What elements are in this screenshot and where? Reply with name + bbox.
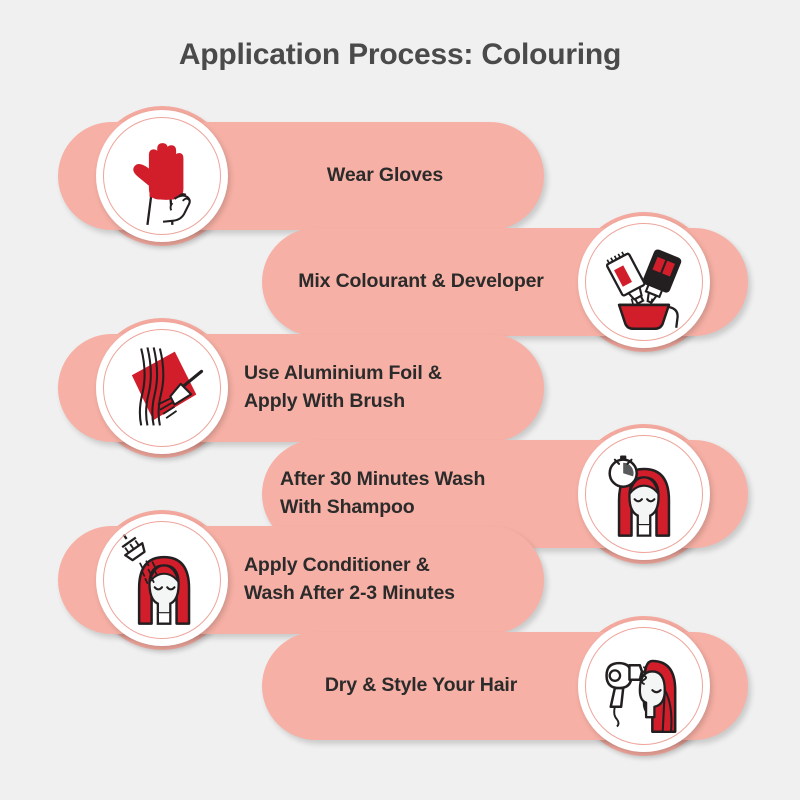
step-1-label: Wear Gloves [244,122,526,230]
foil-and-brush-icon [110,336,214,440]
step-row-1[interactable]: Wear Gloves [58,122,544,230]
step-row-6[interactable]: Dry & Style Your Hair [262,632,748,740]
mixing-bowl-icon [592,230,696,334]
step-5-label: Apply Conditioner & Wash After 2-3 Minut… [244,526,526,634]
infographic-canvas: Application Process: Colouring Wear Glov… [0,0,800,800]
stopwatch-woman-icon [592,442,696,546]
step-6-badge[interactable] [578,620,710,752]
step-3-badge[interactable] [96,322,228,454]
step-row-5[interactable]: Apply Conditioner & Wash After 2-3 Minut… [58,526,544,634]
step-1-badge[interactable] [96,110,228,242]
step-3-label: Use Aluminium Foil & Apply With Brush [244,334,526,442]
step-row-2[interactable]: Mix Colourant & Developer [262,228,748,336]
page-title: Application Process: Colouring [0,38,800,72]
shower-woman-icon [110,528,214,632]
gloved-hand-icon [110,124,214,228]
step-5-badge[interactable] [96,514,228,646]
step-4-badge[interactable] [578,428,710,560]
step-row-3[interactable]: Use Aluminium Foil & Apply With Brush [58,334,544,442]
step-6-label: Dry & Style Your Hair [280,632,562,740]
step-2-label: Mix Colourant & Developer [280,228,562,336]
hairdryer-icon [592,634,696,738]
step-2-badge[interactable] [578,216,710,348]
